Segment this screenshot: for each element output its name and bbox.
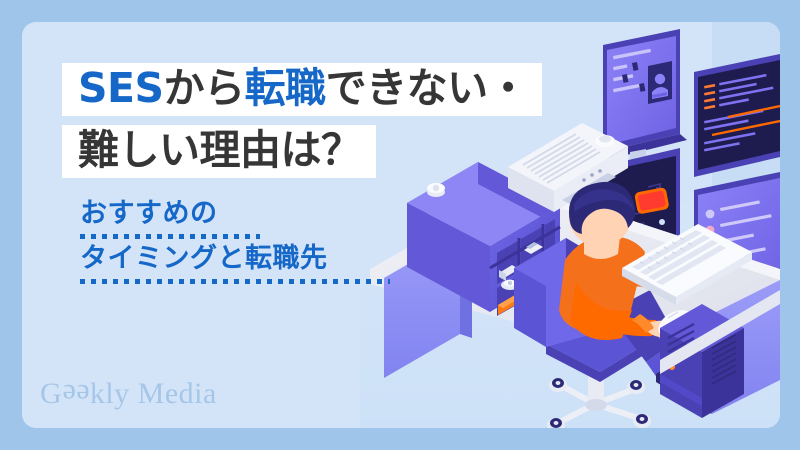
subtitle-line-2-text: タイミングと転職先 <box>80 243 328 275</box>
headline-line-2-box: 難しい理由は？ <box>62 125 376 178</box>
headline-line-2: 難しい理由は？ <box>62 125 482 178</box>
subtitle-dotted-underline-2 <box>80 279 390 284</box>
keyboard <box>622 224 752 305</box>
headline-seg-ses: SES <box>78 64 164 112</box>
headline-block: SESから転職できない・ 難しい理由は？ おすすめの タイミングと転職先 <box>62 63 482 288</box>
office-chair <box>514 238 652 428</box>
banner-card: SESから転職できない・ 難しい理由は？ おすすめの タイミングと転職先 <box>22 22 780 428</box>
monitor-bottom-left <box>603 148 680 287</box>
monitor-top-right <box>694 54 780 177</box>
headline-seg-dekinai: できない・ <box>326 64 529 112</box>
mouse <box>654 304 699 344</box>
geekly-media-logo: Geekly Media <box>40 377 217 411</box>
logo-part-3: kly Media <box>90 377 217 410</box>
banner-root: SESから転職できない・ 難しい理由は？ おすすめの タイミングと転職先 <box>0 0 800 450</box>
headline-line-1-box: SESから転職できない・ <box>62 63 542 116</box>
subtitle-dotted-underline-1 <box>80 234 260 239</box>
printer <box>508 123 628 212</box>
headline-seg-tenshoku: 転職 <box>245 64 326 112</box>
monitor-top-left <box>603 29 687 169</box>
subtitle-line-1: おすすめの <box>80 198 482 239</box>
subtitle-line-2: タイミングと転職先 <box>80 243 482 284</box>
logo-part-2: ee <box>62 377 90 411</box>
subtitle-line-1-text: おすすめの <box>80 198 218 230</box>
headline-line-1: SESから転職できない・ <box>62 63 482 116</box>
logo-part-1: G <box>40 377 62 410</box>
person <box>559 182 694 387</box>
pc-tower <box>660 304 744 418</box>
subtitle-block: おすすめの タイミングと転職先 <box>80 198 482 284</box>
headline-seg-kara: から <box>164 64 245 112</box>
monitor-bottom-right <box>694 172 780 294</box>
headline-seg-muzukashii: 難しい理由は？ <box>78 126 362 174</box>
